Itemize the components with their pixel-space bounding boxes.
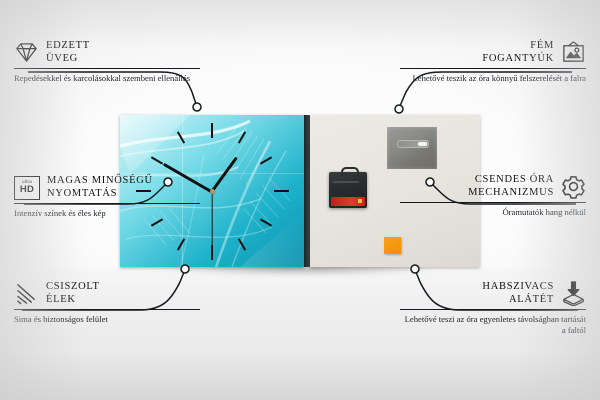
clock-mechanism <box>329 172 367 208</box>
callout-tempered-glass[interactable]: EDZETT ÜVEG Repedésekkel és karcolásokka… <box>14 40 200 84</box>
callout-title-line-2: FOGANTYÚK <box>482 53 554 66</box>
callout-title-line-1: MAGAS MINŐSÉGŰ <box>47 175 153 188</box>
callout-silent-mechanism[interactable]: CSENDES ÓRA MECHANIZMUS Óramutatók hang … <box>400 174 586 218</box>
connector-dot-metal-hooks <box>395 105 403 113</box>
ultra-hd-badge-icon: ultra HD <box>14 176 40 200</box>
battery <box>331 197 365 206</box>
ultra-hd-large-text: HD <box>20 185 34 195</box>
mechanism-detail <box>333 181 359 183</box>
foam-pad <box>384 237 401 254</box>
callout-description: Lehetővé teszi az óra egyenletes távolsá… <box>400 310 586 335</box>
hand-cap <box>210 189 215 194</box>
callout-title-line-1: CSISZOLT <box>46 281 100 294</box>
callout-polished-edges[interactable]: CSISZOLT ÉLEK Sima és biztonságos felüle… <box>14 281 200 325</box>
callout-description: Repedésekkel és karcolásokkal szembeni e… <box>14 69 200 84</box>
callout-title-line-2: ÉLEK <box>46 294 100 307</box>
callout-description: Sima és biztonságos felület <box>14 310 200 325</box>
hanger-slot <box>397 140 429 148</box>
callout-title-line-2: MECHANIZMUS <box>468 187 554 200</box>
callout-title-line-2: ÜVEG <box>46 53 90 66</box>
callout-title-line-1: CSENDES ÓRA <box>468 174 554 187</box>
callout-title-line-2: NYOMTATÁS <box>47 188 153 201</box>
callout-title-line-2: ALÁTÉT <box>482 294 554 307</box>
metal-hanger-plate <box>387 127 437 169</box>
callout-foam-pad[interactable]: HABSZIVACS ALÁTÉT Lehetővé teszi az óra … <box>400 281 586 335</box>
hour-hand <box>211 157 238 193</box>
callout-title-line-1: FÉM <box>482 40 554 53</box>
arrow-down-pad-icon <box>561 281 586 306</box>
mechanism-hook <box>341 167 359 176</box>
gear-icon <box>561 174 586 199</box>
callout-description: Intenzív színek és éles kép <box>14 204 200 219</box>
callout-description: Óramutatók hang nélkül <box>400 203 586 218</box>
callout-title-line-1: HABSZIVACS <box>482 281 554 294</box>
callout-high-quality-print[interactable]: ultra HD MAGAS MINŐSÉGŰ NYOMTATÁS Intenz… <box>14 175 200 219</box>
callout-metal-hooks[interactable]: FÉM FOGANTYÚK Lehetővé teszik az óra kön… <box>400 40 586 84</box>
second-hand <box>211 192 212 254</box>
hanging-frame-icon <box>561 40 586 65</box>
connector-dot-tempered-glass <box>193 103 201 111</box>
diagonal-lines-icon <box>14 281 39 306</box>
diamond-icon <box>14 40 39 65</box>
callout-description: Lehetővé teszik az óra könnyű felszerelé… <box>400 69 586 84</box>
callout-title-line-1: EDZETT <box>46 40 90 53</box>
